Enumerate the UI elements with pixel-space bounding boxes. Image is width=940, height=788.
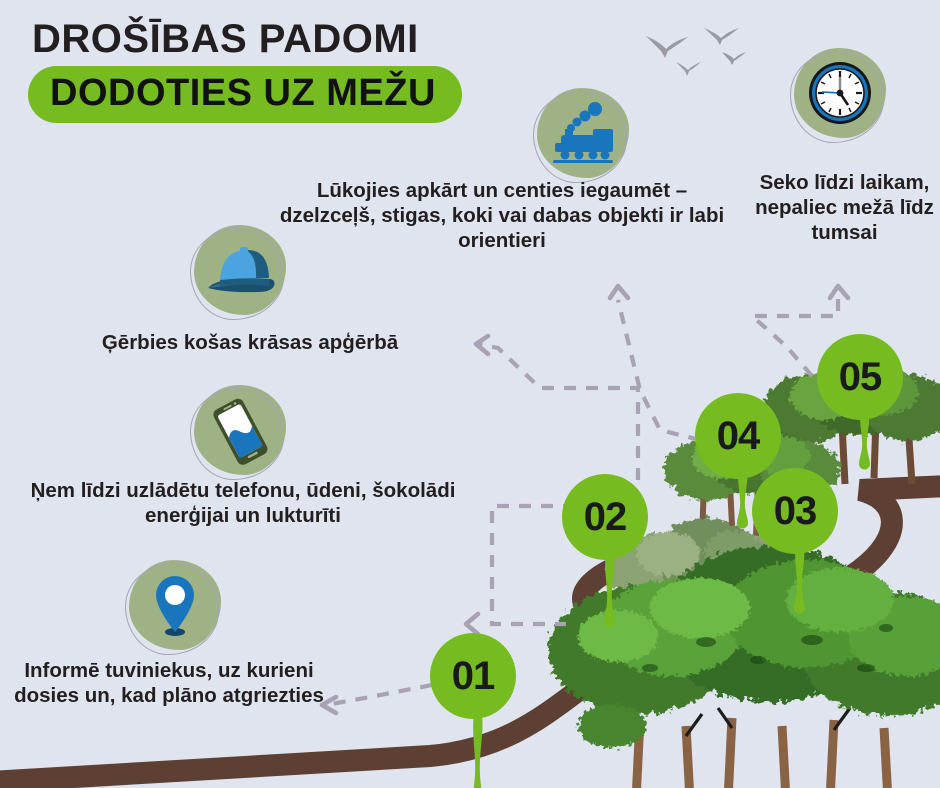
marker-number: 04 [717, 416, 760, 456]
marker-number: 01 [452, 656, 495, 696]
marker-number: 05 [839, 357, 882, 397]
smartphone-icon-badge [190, 382, 290, 482]
infographic-canvas: DROŠĪBAS PADOMI DODOTIES UZ MEŽU [0, 0, 940, 788]
tip-text-3: Ģērbies košas krāsas apģērbā [50, 330, 450, 355]
clock-icon [790, 45, 890, 145]
train-icon [533, 85, 633, 185]
location-pin-icon [125, 557, 225, 657]
marker-number: 02 [584, 497, 627, 537]
location-pin-icon-badge [125, 557, 225, 657]
bush-small [578, 704, 646, 748]
marker-bulb: 03 [752, 468, 838, 554]
page-subtitle: DODOTIES UZ MEŽU [50, 74, 436, 112]
birds-group [646, 28, 746, 76]
tip-text-2: Ņem līdzi uzlādētu telefonu, ūdeni, šoko… [18, 478, 468, 528]
smartphone-icon [190, 382, 290, 482]
marker-02[interactable]: 02 [562, 474, 658, 624]
tip-text-1: Informē tuviniekus, uz kurieni dosies un… [14, 658, 324, 708]
marker-bulb: 02 [562, 474, 648, 560]
marker-03[interactable]: 03 [752, 468, 848, 618]
tip-text-5: Seko līdzi laikam, nepaliec mežā līdz tu… [752, 170, 937, 245]
marker-number: 03 [774, 491, 817, 531]
marker-bulb: 04 [695, 393, 781, 479]
train-icon-badge [533, 85, 633, 185]
page-title: DROŠĪBAS PADOMI [32, 18, 548, 60]
marker-05[interactable]: 05 [817, 334, 913, 484]
title-block: DROŠĪBAS PADOMI DODOTIES UZ MEŽU [28, 18, 548, 123]
marker-01[interactable]: 01 [430, 633, 526, 783]
marker-bulb: 05 [817, 334, 903, 420]
marker-bulb: 01 [430, 633, 516, 719]
clock-icon-badge [790, 45, 890, 145]
tip-text-4: Lūkojies apkārt un centies iegaumēt – dz… [272, 178, 732, 253]
subtitle-pill: DODOTIES UZ MEŽU [28, 66, 462, 123]
